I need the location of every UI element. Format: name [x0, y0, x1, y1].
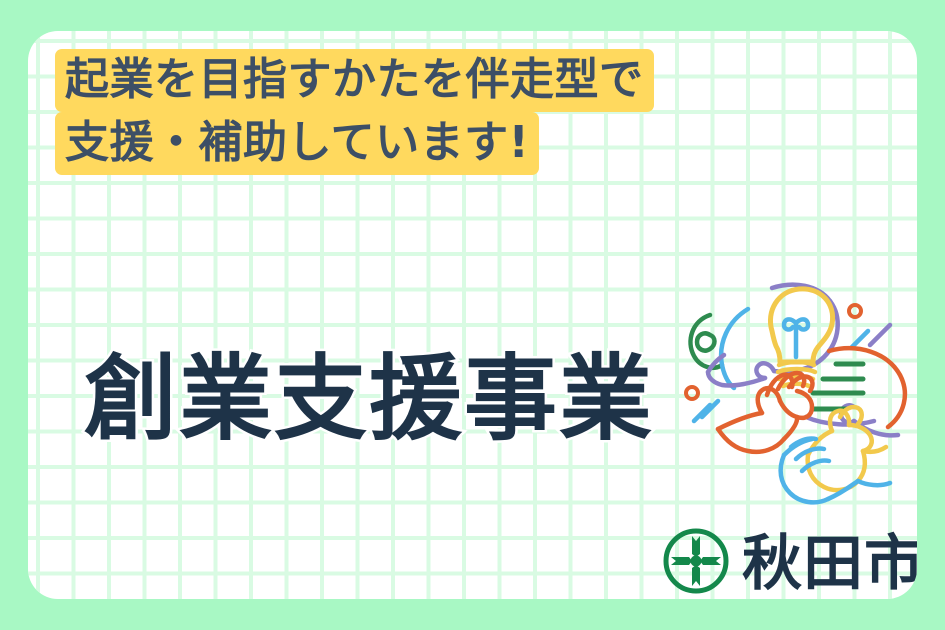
collaboration-ideas-illustration: [666, 279, 917, 511]
page-title: 創業支援事業: [84, 353, 654, 446]
illustration-svg: [666, 279, 917, 511]
akita-city-label: 秋田市: [742, 534, 917, 594]
headline-block: 起業を目指すかたを伴走型で 支援・補助しています!: [55, 49, 875, 175]
hand-blue-icon: [781, 438, 890, 502]
speech-bubble-blue-icon: [721, 309, 748, 388]
akita-city-emblem-icon: [662, 527, 730, 599]
text-lines-green-icon: [813, 364, 863, 409]
headline-line-1: 起業を目指すかたを伴走型で: [55, 49, 654, 112]
headline-line-2: 支援・補助しています!: [55, 112, 539, 175]
akita-city-logo: 秋田市: [662, 527, 917, 599]
white-card: 起業を目指すかたを伴走型で 支援・補助しています! 創業支援事業: [28, 31, 917, 599]
poster-root: 起業を目指すかたを伴走型で 支援・補助しています! 創業支援事業: [0, 0, 945, 630]
akita-city-emblem-svg: [662, 527, 730, 595]
